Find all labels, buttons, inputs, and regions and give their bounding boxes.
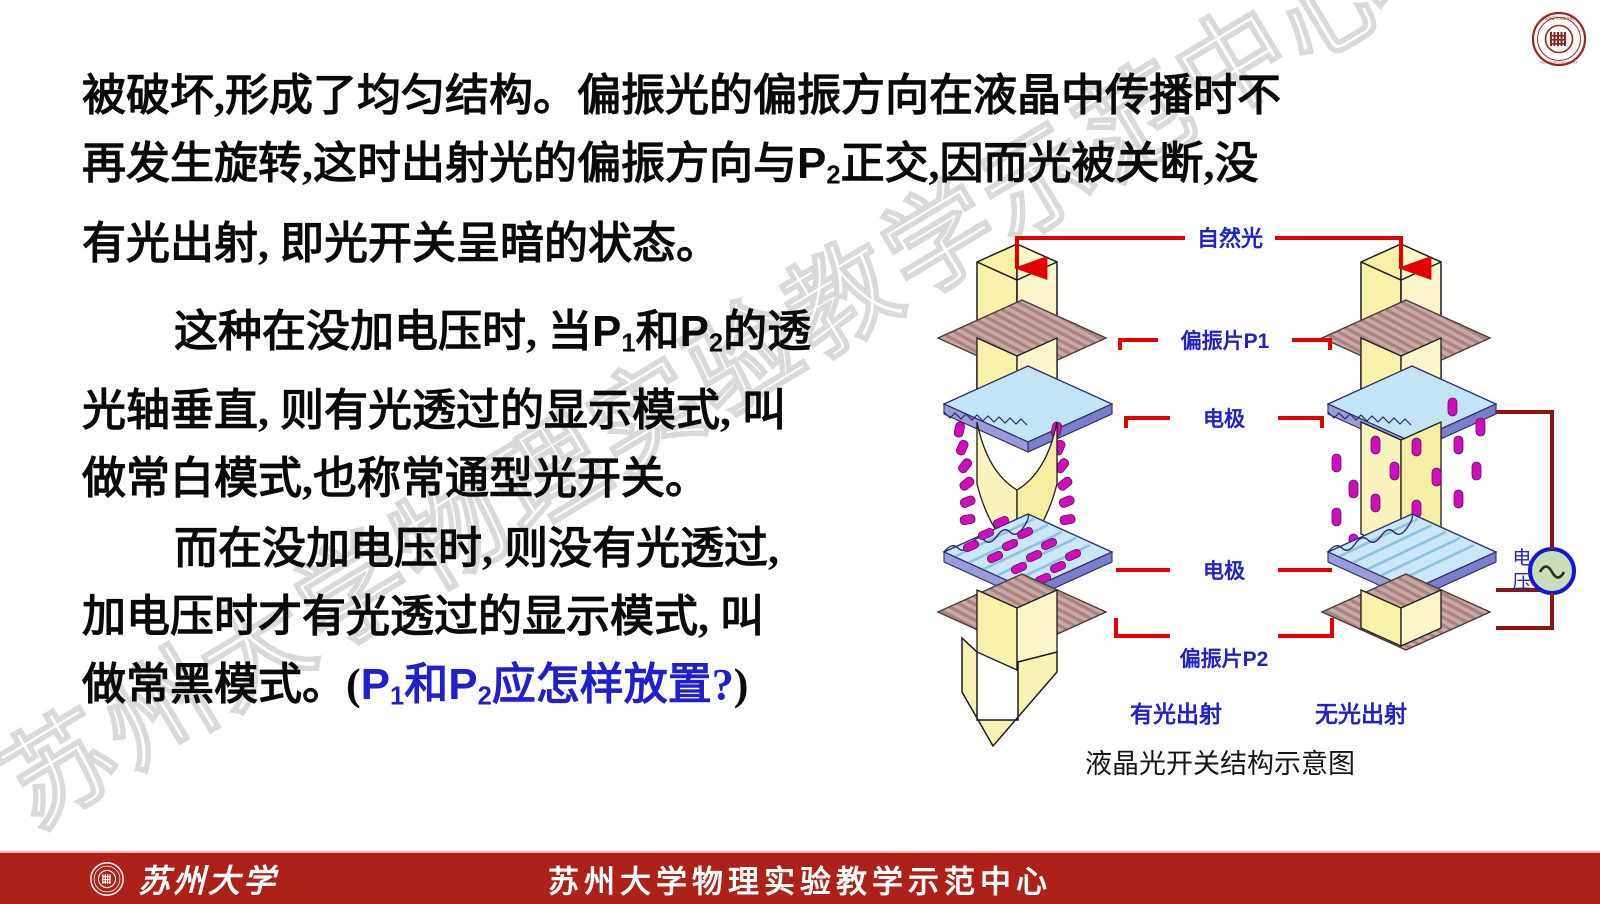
p1-line2-symbol: P [797, 139, 826, 188]
svg-text:SOOCHOW UNIVERSITY: SOOCHOW UNIVERSITY [1540, 61, 1579, 65]
polarizer-p2-bracket [1116, 618, 1332, 636]
no-light-out-label: 无光出射 [1315, 701, 1407, 727]
p1-line2-subscript: 2 [826, 162, 840, 190]
diagram-caption: 液晶光开关结构示意图 [930, 742, 1510, 781]
p2-line1-b: 的透 [723, 307, 811, 356]
paragraph-1: 被破坏,形成了均匀结构。偏振光的偏振方向在液晶中传播时不 再发生旋转,这时出射光… [82, 62, 962, 278]
p1-line2-a: 再发生旋转,这时出射光的偏振方向与 [82, 139, 797, 188]
p3-question-tail: 应怎样放置? [492, 660, 734, 709]
p2-subscript-1: 1 [621, 329, 635, 357]
p3-paren-close: ) [734, 660, 749, 709]
p3-question-p1: P [361, 660, 390, 709]
p2-line1-a: 这种在没加电压时, 当 [174, 307, 592, 356]
p3-question-sub2: 2 [478, 683, 492, 711]
p2-line2: 光轴垂直, 则有光透过的显示模式, 叫 [82, 377, 962, 445]
paragraph-gap-1 [82, 280, 962, 298]
slide-body-text: 被破坏,形成了均匀结构。偏振光的偏振方向在液晶中传播时不 再发生旋转,这时出射光… [82, 62, 962, 733]
left-top-electrode [944, 366, 1112, 452]
paragraph-2: 这种在没加电压时, 当P1和P2的透 光轴垂直, 则有光透过的显示模式, 叫 做… [82, 298, 962, 514]
p3-question-sub1: 1 [390, 683, 404, 711]
p2-line3: 做常白模式,也称常通型光开关。 [82, 445, 962, 513]
p1-line1: 被破坏,形成了均匀结构。偏振光的偏振方向在液晶中传播时不 [82, 62, 962, 130]
footer-bar: 苏州大学 苏州大学物理实验教学示范中心 [0, 851, 1600, 904]
voltage-label-line2: 压 [1512, 572, 1531, 593]
voltage-circuit [1496, 412, 1574, 628]
voltage-label-line1: 电 [1512, 547, 1531, 569]
p1-line2: 再发生旋转,这时出射光的偏振方向与P2正交,因而光被关断,没 [82, 130, 962, 210]
p2-subscript-2: 2 [709, 329, 723, 357]
lcd-optical-switch-diagram: 电 压 自然光 偏振片P1 电极 电极 偏振片P2 有光出射 无光出射 [930, 222, 1590, 782]
p2-line1-mid: 和 [636, 307, 680, 356]
university-seal-icon: 养天地正气 法古今完人 SOOCHOW UNIVERSITY [1528, 8, 1590, 70]
polarizer-p2-label: 偏振片P2 [1180, 647, 1269, 671]
natural-light-label: 自然光 [1197, 226, 1263, 251]
p3-line2: 加电压时才有光透过的显示模式, 叫 [82, 583, 962, 651]
p3-paren-open: ( [346, 660, 361, 709]
right-cell-group [1322, 244, 1496, 650]
p3-line1: 而在没加电压时, 则没有光透过, [82, 515, 962, 583]
p3-question-p2: P [448, 660, 477, 709]
electrode-bottom-label: 电极 [1203, 560, 1246, 583]
left-cell-group [938, 244, 1112, 746]
p3-line3: 做常黑模式。(P1和P2应怎样放置?) [82, 651, 962, 731]
polarizer-p1-label: 偏振片P1 [1181, 329, 1270, 353]
p2-line1: 这种在没加电压时, 当P1和P2的透 [82, 298, 962, 378]
paragraph-3: 而在没加电压时, 则没有光透过, 加电压时才有光透过的显示模式, 叫 做常黑模式… [82, 515, 962, 731]
p3-line3-a: 做常黑模式。 [82, 660, 346, 709]
p1-line2-b: 正交,因而光被关断,没 [841, 139, 1259, 188]
footer-title: 苏州大学物理实验教学示范中心 [0, 856, 1600, 901]
p2-symbol-p1: P [592, 307, 621, 356]
light-out-label: 有光出射 [1130, 701, 1222, 727]
p2-symbol-p2: P [680, 307, 709, 356]
p1-line3: 有光出射, 即光开关呈暗的状态。 [82, 210, 962, 278]
p3-question-mid: 和 [404, 660, 448, 709]
svg-text:养天地正气 法古今完人: 养天地正气 法古今完人 [1542, 16, 1577, 21]
electrode-top-label: 电极 [1203, 408, 1246, 431]
